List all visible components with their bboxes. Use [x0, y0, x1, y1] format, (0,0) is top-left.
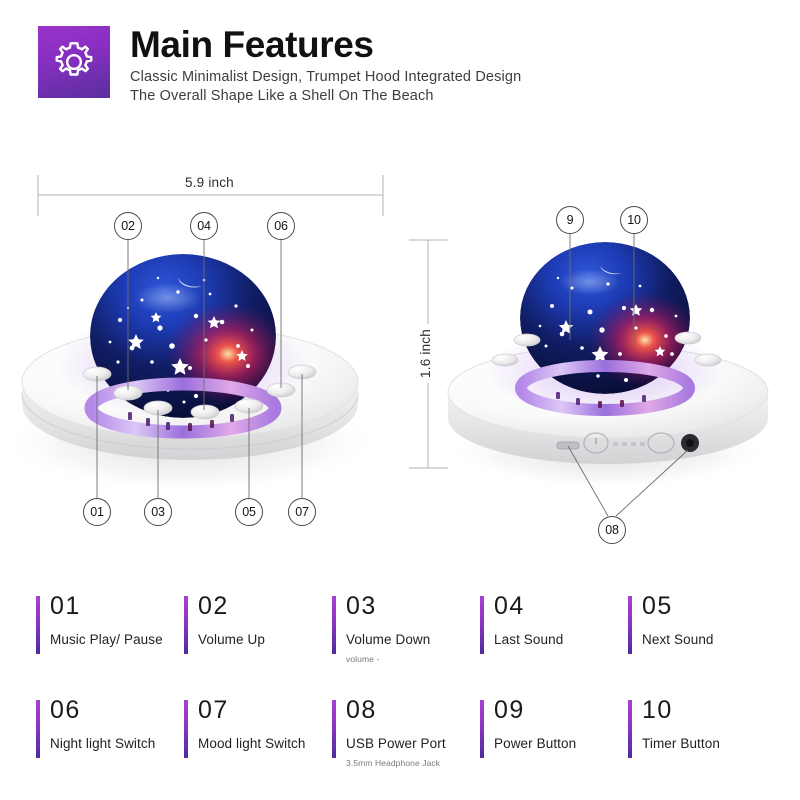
legend-label: Timer Button	[642, 735, 776, 753]
callout-02[interactable]: 02	[114, 212, 142, 240]
feature-legend-grid: 01 Music Play/ Pause 02 Volume Up 03 Vol…	[36, 592, 776, 800]
subtitle-line-2: The Overall Shape Like a Shell On The Be…	[130, 87, 750, 106]
legend-item-10[interactable]: 10 Timer Button	[628, 696, 776, 800]
legend-accent-bar	[36, 596, 40, 654]
gear-icon	[38, 26, 110, 98]
callout-07[interactable]: 07	[288, 498, 316, 526]
legend-number: 03	[346, 592, 480, 621]
callout-08[interactable]: 08	[598, 516, 626, 544]
legend-accent-bar	[480, 596, 484, 654]
legend-item-03[interactable]: 03 Volume Down volume -	[332, 592, 480, 696]
legend-item-08[interactable]: 08 USB Power Port 3.5mm Headphone Jack	[332, 696, 480, 800]
legend-item-07[interactable]: 07 Mood light Switch	[184, 696, 332, 800]
product-right-view	[448, 228, 768, 516]
legend-item-05[interactable]: 05 Next Sound	[628, 592, 776, 696]
legend-number: 09	[494, 696, 628, 725]
legend-label: Music Play/ Pause	[50, 631, 184, 649]
legend-item-04[interactable]: 04 Last Sound	[480, 592, 628, 696]
callout-05[interactable]: 05	[235, 498, 263, 526]
legend-item-06[interactable]: 06 Night light Switch	[36, 696, 184, 800]
legend-sublabel: 3.5mm Headphone Jack	[346, 757, 480, 769]
legend-number: 05	[642, 592, 776, 621]
legend-number: 07	[198, 696, 332, 725]
legend-label: Next Sound	[642, 631, 776, 649]
legend-accent-bar	[36, 700, 40, 758]
legend-accent-bar	[628, 700, 632, 758]
legend-label: USB Power Port	[346, 735, 480, 753]
legend-accent-bar	[628, 596, 632, 654]
legend-item-02[interactable]: 02 Volume Up	[184, 592, 332, 696]
legend-number: 01	[50, 592, 184, 621]
dimension-width-label: 5.9 inch	[178, 175, 241, 190]
legend-item-01[interactable]: 01 Music Play/ Pause	[36, 592, 184, 696]
legend-label: Night light Switch	[50, 735, 184, 753]
legend-label: Volume Down	[346, 631, 480, 649]
product-left-view	[2, 234, 378, 498]
legend-item-09[interactable]: 09 Power Button	[480, 696, 628, 800]
legend-number: 04	[494, 592, 628, 621]
legend-number: 06	[50, 696, 184, 725]
callout-09[interactable]: 9	[556, 206, 584, 234]
legend-label: Power Button	[494, 735, 628, 753]
legend-accent-bar	[332, 700, 336, 758]
subtitle-line-1: Classic Minimalist Design, Trumpet Hood …	[130, 68, 750, 87]
legend-label: Mood light Switch	[198, 735, 332, 753]
header: Main Features Classic Minimalist Design,…	[38, 26, 758, 136]
legend-number: 10	[642, 696, 776, 725]
callout-01[interactable]: 01	[83, 498, 111, 526]
callout-04[interactable]: 04	[190, 212, 218, 240]
callout-03[interactable]: 03	[144, 498, 172, 526]
legend-label: Volume Up	[198, 631, 332, 649]
callout-10[interactable]: 10	[620, 206, 648, 234]
page-title: Main Features	[130, 22, 750, 68]
legend-number: 02	[198, 592, 332, 621]
infographic-page: Main Features Classic Minimalist Design,…	[0, 0, 800, 800]
callout-06[interactable]: 06	[267, 212, 295, 240]
legend-number: 08	[346, 696, 480, 725]
legend-accent-bar	[184, 596, 188, 654]
legend-sublabel: volume -	[346, 653, 480, 665]
usb-power-port	[557, 442, 579, 449]
legend-accent-bar	[480, 700, 484, 758]
legend-accent-bar	[184, 700, 188, 758]
dimension-height-label: 1.6 inch	[418, 324, 433, 383]
legend-label: Last Sound	[494, 631, 628, 649]
legend-accent-bar	[332, 596, 336, 654]
product-illustration-area: 5.9 inch 1.6 inch 02 04 06 01 03 05 07 9…	[0, 150, 800, 570]
header-text-block: Main Features Classic Minimalist Design,…	[130, 22, 750, 106]
